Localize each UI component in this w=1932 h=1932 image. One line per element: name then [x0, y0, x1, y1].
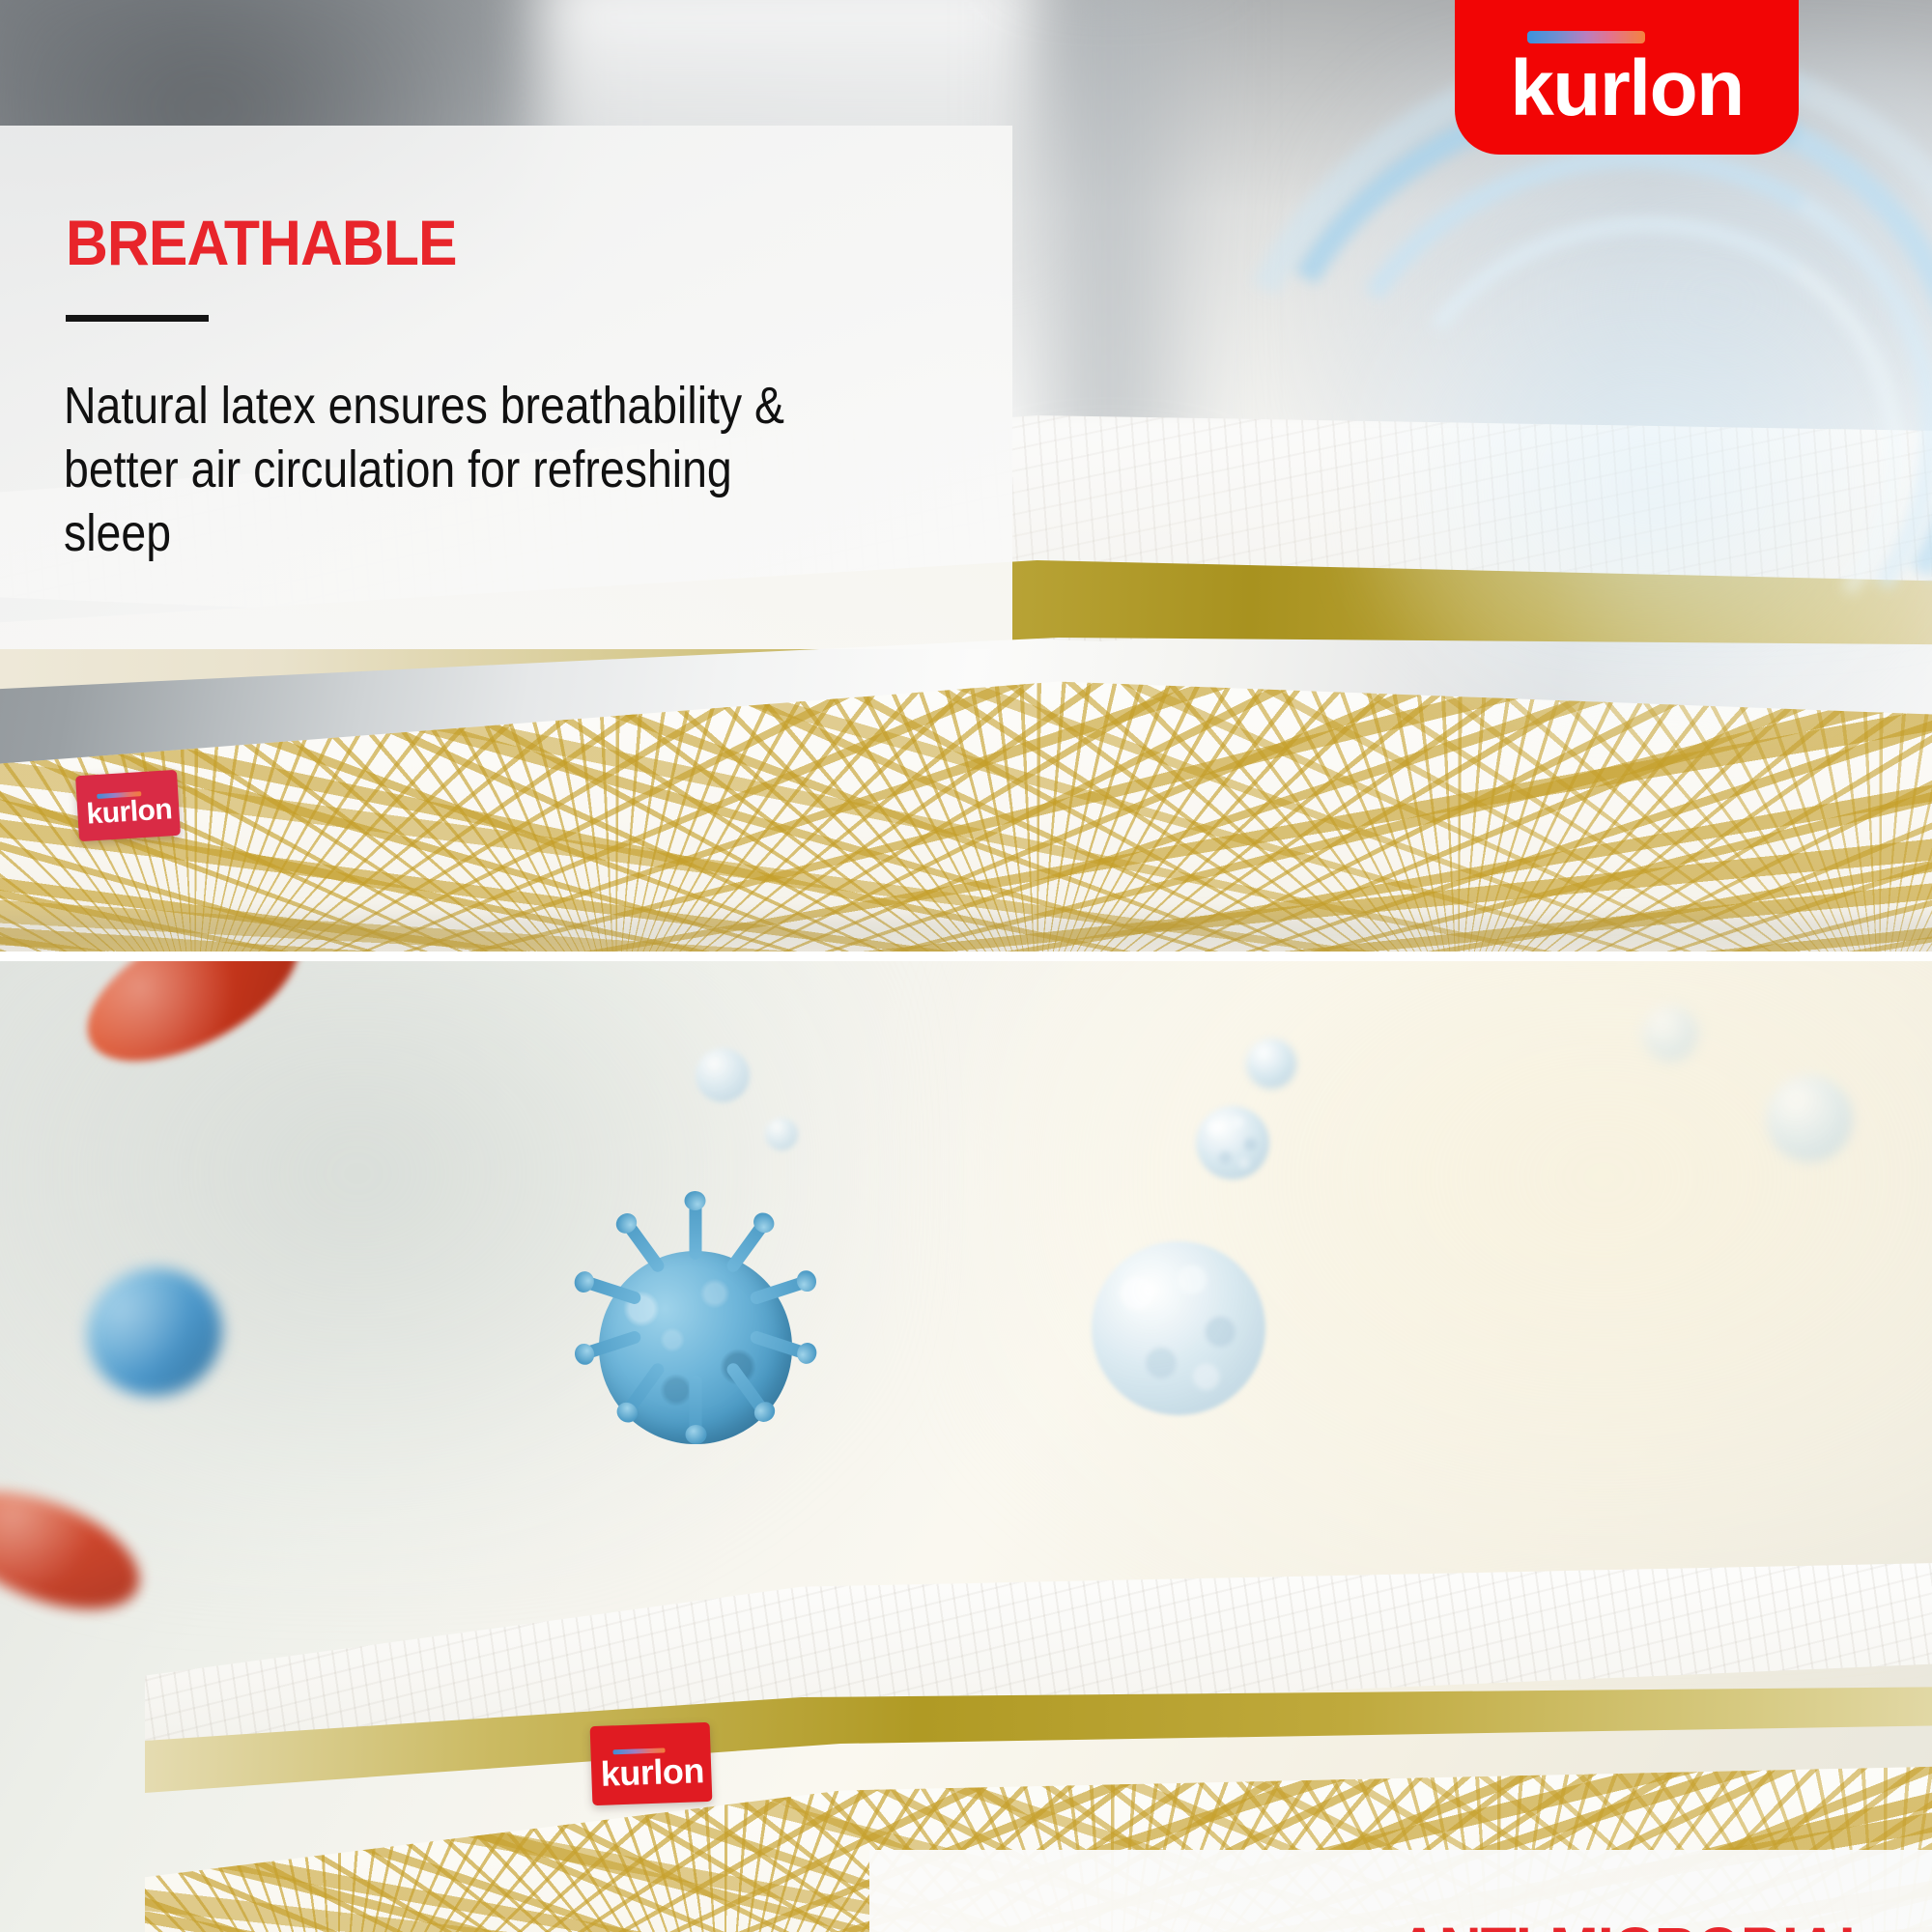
microbe-cluster-medium-1	[1196, 1106, 1269, 1179]
background-pillar	[1005, 0, 1227, 473]
microbe-particle-2	[765, 1118, 798, 1151]
microbe-particle-1	[696, 1048, 750, 1102]
microbe-cluster-medium-2	[1246, 1038, 1296, 1089]
breathable-heading: BREATHABLE	[66, 211, 457, 274]
microbe-particle-3	[1766, 1075, 1853, 1162]
mattress-brand-tag: kurlon	[75, 770, 181, 841]
mattress-shadow	[0, 918, 1932, 952]
mattress-sunburst-pattern	[0, 657, 1932, 952]
kurlon-logo-badge[interactable]: kurlon	[1455, 0, 1799, 155]
tag-wordmark: kurlon	[598, 1736, 705, 1792]
panel-breathable: kurlon BREATHABLE Natural latex ensures …	[0, 0, 1932, 952]
breathable-divider-rule	[66, 315, 209, 322]
microbe-particle-4	[1642, 1006, 1698, 1062]
breathable-body-text: Natural latex ensures breathability & be…	[64, 375, 795, 566]
antimicrobial-text-card: ANTI-MICROBIAL This technology reduces b…	[869, 1850, 1932, 1932]
virus-particle-icon	[599, 1251, 792, 1444]
antimicrobial-heading: ANTI-MICROBIAL	[1398, 1918, 1874, 1932]
mattress-brand-tag: kurlon	[590, 1722, 713, 1805]
infographic-canvas: kurlon BREATHABLE Natural latex ensures …	[0, 0, 1932, 1932]
tag-wordmark: kurlon	[83, 781, 173, 829]
panel-antimicrobial: kurlon	[0, 961, 1932, 1932]
logo-gradient-bar-icon	[1527, 31, 1645, 43]
microbe-cluster-large	[1092, 1241, 1265, 1415]
panel-divider	[0, 952, 1932, 961]
breathable-text-card: BREATHABLE Natural latex ensures breatha…	[0, 126, 1012, 649]
